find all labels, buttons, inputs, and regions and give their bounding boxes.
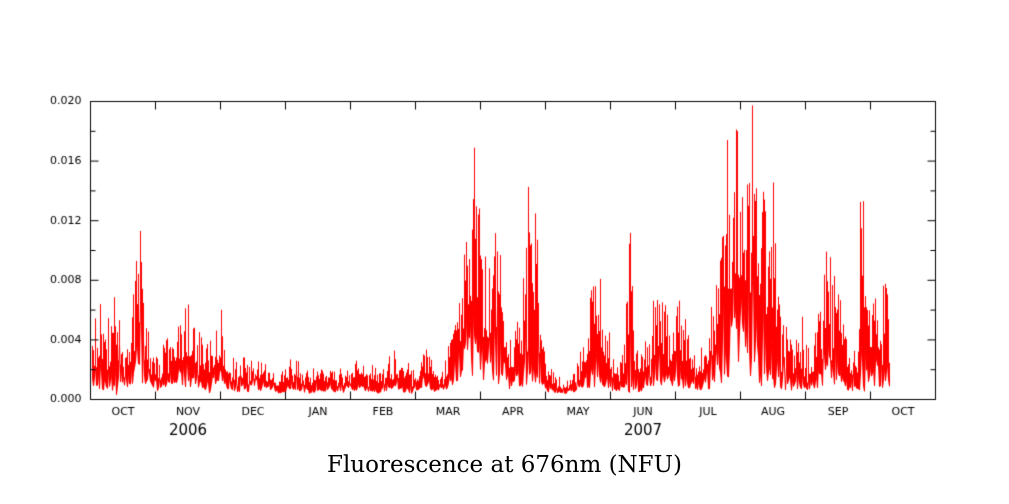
timeseries-plot (0, 0, 1009, 504)
chart-caption: Fluorescence at 676nm (NFU) (0, 452, 1009, 478)
chart-page: LONGITUDE : 122W(-122) LATITUDE : 36.8N … (0, 0, 1009, 504)
